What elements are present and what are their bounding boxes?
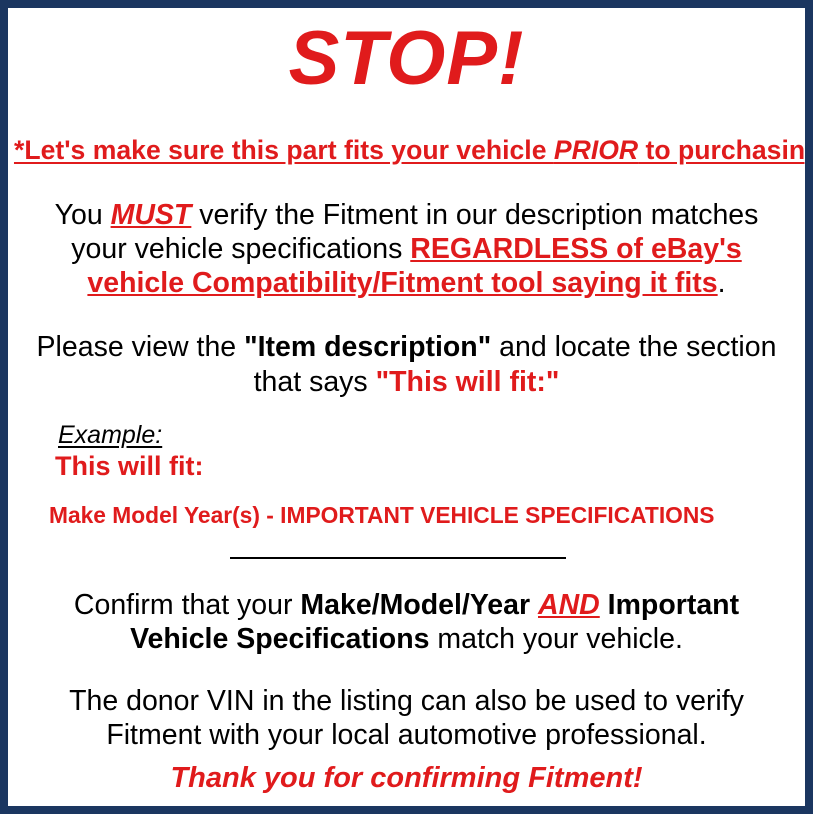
paragraph-must-verify: You MUST verify the Fitment in our descr…	[26, 198, 787, 300]
must-text-part-1: You	[55, 199, 111, 231]
confirm-text-part-1: Confirm that your	[74, 589, 301, 621]
closing-thank-you: Thank you for confirming Fitment!	[26, 761, 787, 795]
fitment-notice-card: STOP! *Let's make sure this part fits yo…	[0, 0, 813, 814]
paragraph-item-description: Please view the "Item description" and l…	[26, 330, 787, 400]
page-title: STOP!	[8, 18, 805, 100]
tagline-suffix: to purchasing*	[638, 135, 813, 165]
tagline-banner: *Let's make sure this part fits your veh…	[14, 134, 799, 166]
item-description-emphasis: "Item description"	[244, 331, 491, 363]
confirm-text-part-2	[530, 589, 538, 621]
notice-inner-panel: STOP! *Let's make sure this part fits yo…	[8, 8, 805, 806]
item-desc-text-part-1: Please view the	[37, 331, 245, 363]
example-fit-heading: This will fit:	[55, 451, 204, 481]
paragraph-donor-vin: The donor VIN in the listing can also be…	[26, 684, 787, 752]
paragraph-confirm-match: Confirm that your Make/Model/Year AND Im…	[26, 588, 787, 656]
confirm-text-part-4: match your vehicle.	[429, 623, 682, 655]
example-spec-line: Make Model Year(s) - IMPORTANT VEHICLE S…	[49, 502, 762, 528]
tagline-emphasis-prior: PRIOR	[554, 135, 638, 165]
example-label: Example:	[58, 421, 162, 449]
divider-rule	[230, 557, 566, 559]
confirm-text-part-3	[600, 589, 608, 621]
tagline-prefix: *Let's make sure this part fits your veh…	[14, 135, 554, 165]
must-text-part-3: .	[718, 267, 726, 299]
this-will-fit-emphasis: "This will fit:"	[376, 366, 560, 398]
must-emphasis: MUST	[111, 199, 192, 231]
make-model-year-emphasis: Make/Model/Year	[300, 589, 530, 621]
and-emphasis: AND	[538, 589, 600, 621]
